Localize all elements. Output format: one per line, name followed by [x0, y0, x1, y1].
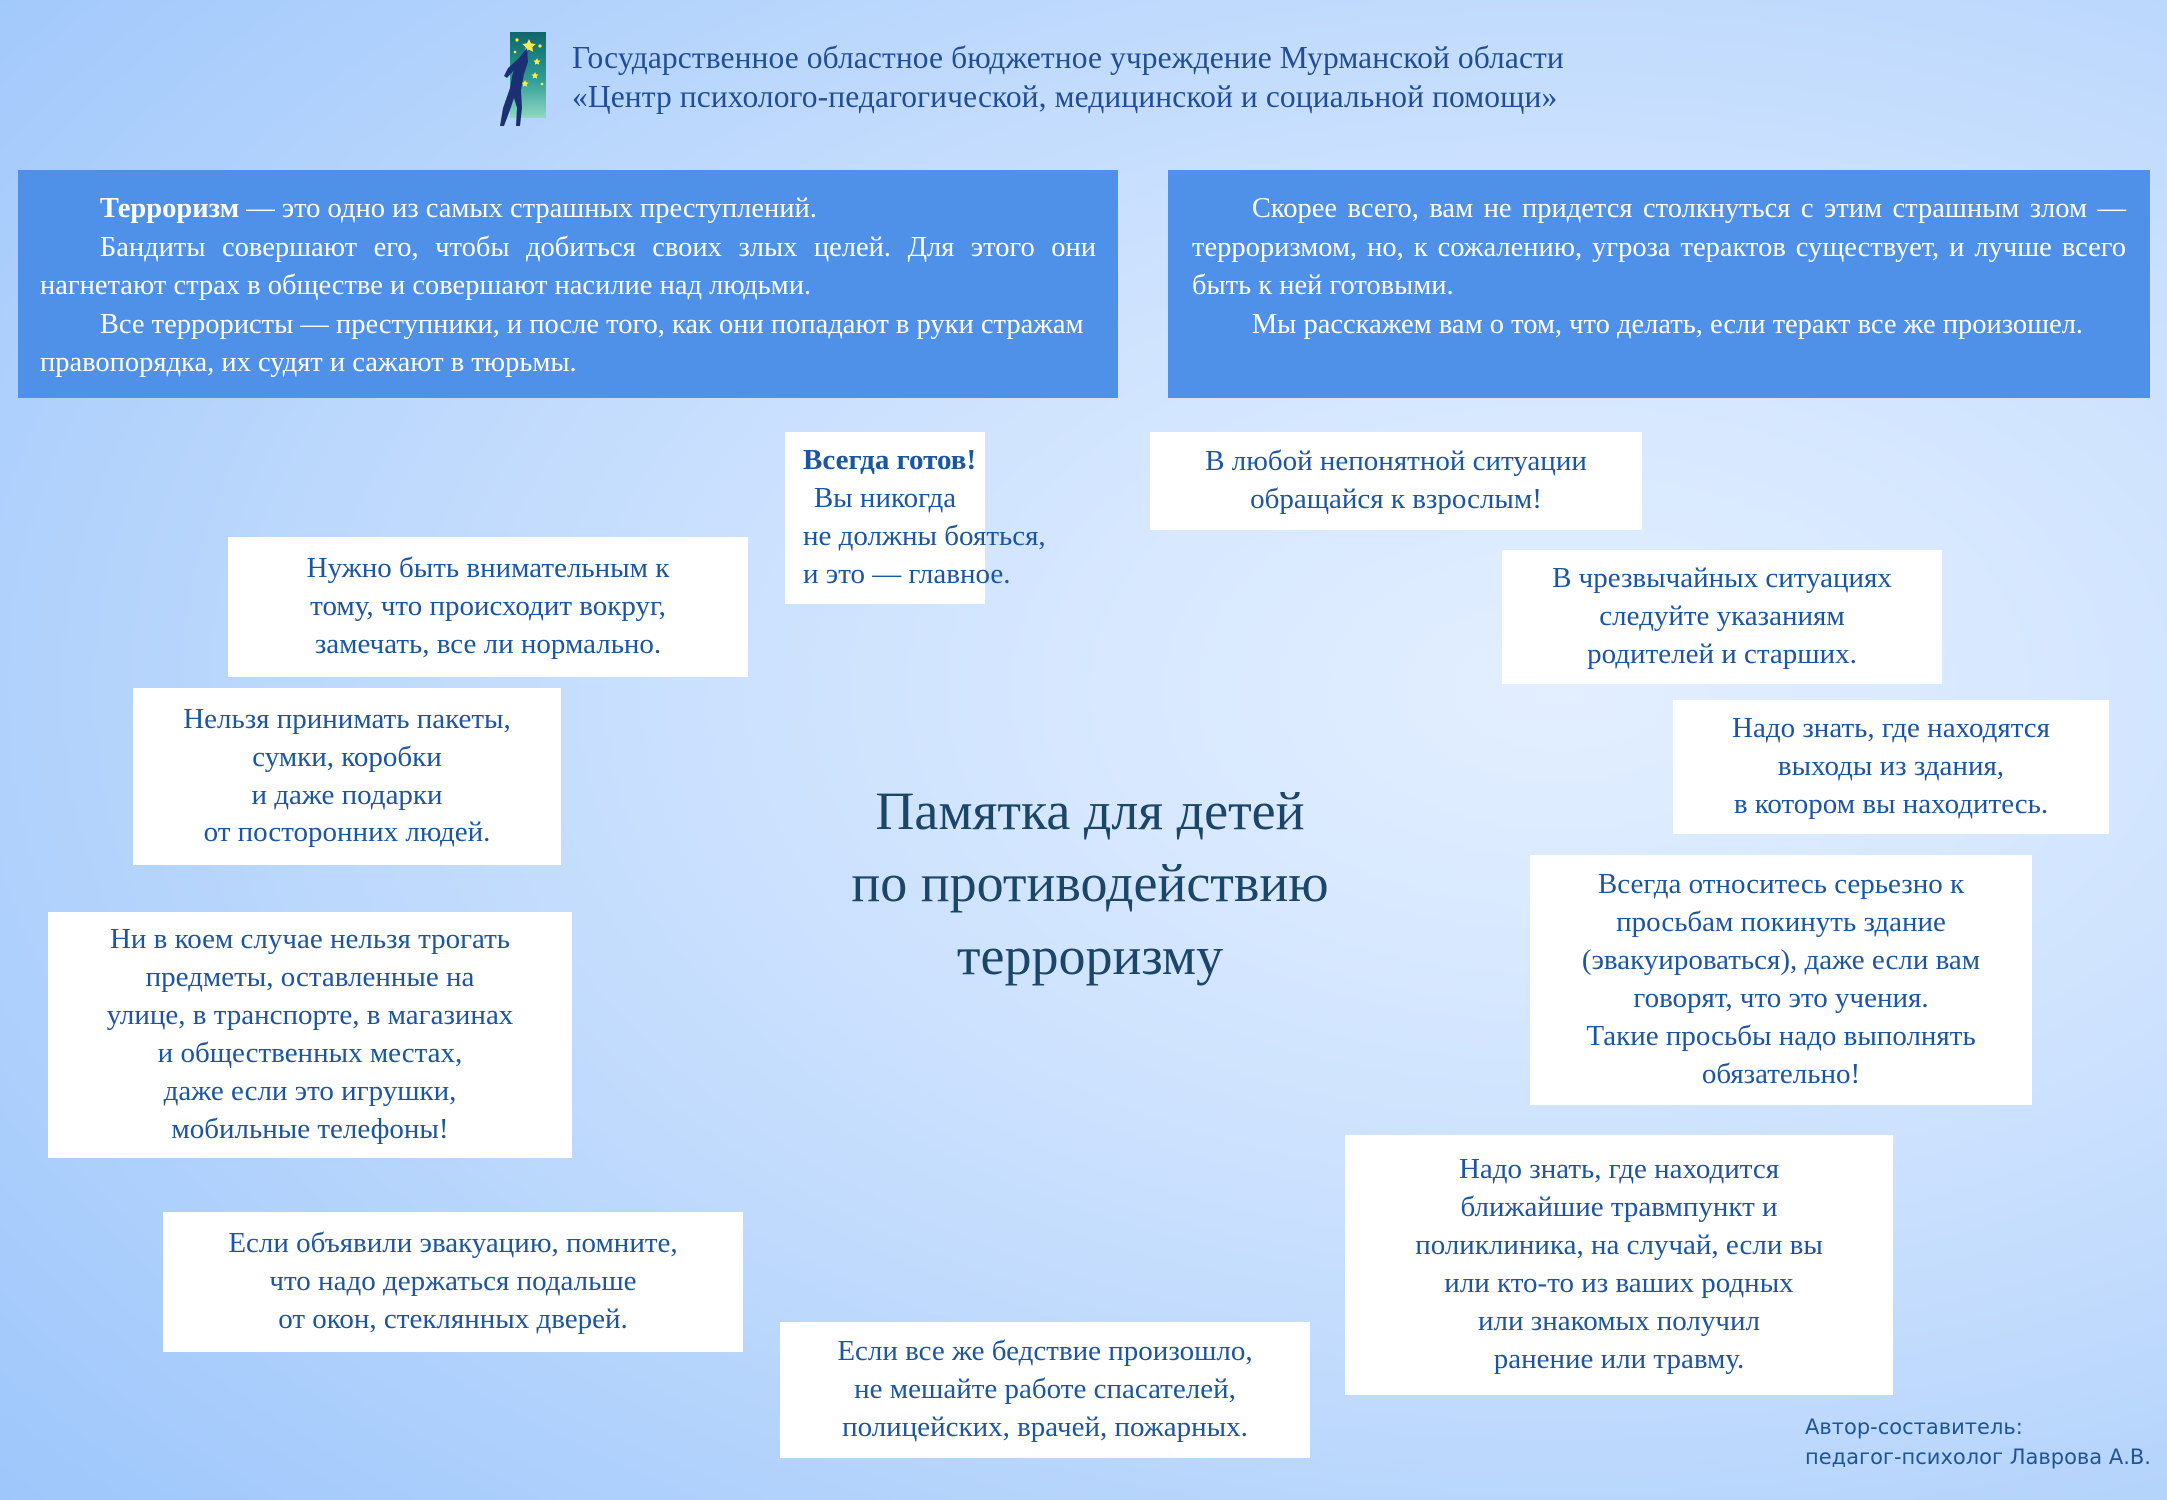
tip-line: ближайшие травмпункт и — [1363, 1189, 1875, 1227]
tip-line: Всегда готов! — [803, 442, 967, 480]
tip-line: Ни в коем случае нельзя трогать — [66, 921, 554, 959]
tip-line: даже если это игрушки, — [66, 1073, 554, 1111]
tip-line: что надо держаться подальше — [181, 1263, 725, 1301]
tip-line: Всегда относитесь серьезно к — [1548, 866, 2014, 904]
intro-panel-left: Терроризм — это одно из самых страшных п… — [18, 170, 1118, 398]
tip-line: следуйте указаниям — [1520, 598, 1924, 636]
tip-card-rescuers: Если все же бедствие произошло,не мешайт… — [780, 1322, 1310, 1458]
tip-card-dont-touch: Ни в коем случае нельзя трогатьпредметы,… — [48, 912, 572, 1158]
tip-card-be-attentive: Нужно быть внимательным ктому, что проис… — [228, 537, 748, 677]
page-title-line-2: по противодействию — [770, 847, 1410, 919]
intro-left-paragraph-2: Бандиты совершают его, чтобы добиться св… — [40, 229, 1096, 306]
tip-line: поликлиника, на случай, если вы — [1363, 1227, 1875, 1265]
logo-artwork — [498, 24, 550, 128]
organization-name: Государственное областное бюджетное учре… — [572, 24, 1564, 117]
tip-line: от окон, стеклянных дверей. — [181, 1301, 725, 1339]
tip-line: тому, что происходит вокруг, — [246, 588, 730, 626]
tip-card-evacuation: Если объявили эвакуацию, помните,что над… — [163, 1212, 743, 1352]
tip-line: полицейских, врачей, пожарных. — [798, 1409, 1292, 1447]
person-reaching-for-stars-logo — [498, 24, 550, 128]
tip-line: Надо знать, где находится — [1363, 1151, 1875, 1189]
author-credit: Автор-составитель: педагог-психолог Лавр… — [1805, 1412, 2151, 1473]
tip-line: обязательно! — [1548, 1056, 2014, 1094]
page-title-line-3: терроризму — [770, 920, 1410, 992]
tip-line: не мешайте работе спасателей, — [798, 1371, 1292, 1409]
author-credit-line-1: Автор-составитель: — [1805, 1412, 2151, 1442]
tip-card-trauma-point: Надо знать, где находитсяближайшие травм… — [1345, 1135, 1893, 1395]
tip-line: сумки, коробки — [151, 739, 543, 777]
tip-line: Нельзя принимать пакеты, — [151, 701, 543, 739]
tip-line: Если все же бедствие произошло, — [798, 1333, 1292, 1371]
tip-line: (эвакуироваться), даже если вам — [1548, 942, 2014, 980]
intro-left-paragraph-1: Терроризм — это одно из самых страшных п… — [40, 190, 1096, 229]
tip-line: В любой непонятной ситуации — [1168, 443, 1624, 481]
tip-line: или знакомых получил — [1363, 1303, 1875, 1341]
page-title-line-1: Памятка для детей — [770, 775, 1410, 847]
tip-line: родителей и старших. — [1520, 636, 1924, 674]
tip-card-no-packages: Нельзя принимать пакеты,сумки, коробкии … — [133, 688, 561, 865]
tip-card-know-exits: Надо знать, где находятсявыходы из здани… — [1673, 700, 2109, 834]
tip-line: обращайся к взрослым! — [1168, 481, 1624, 519]
intro-left-paragraph-1-rest: — это одно из самых страшных преступлени… — [239, 193, 817, 224]
author-credit-line-2: педагог-психолог Лаврова А.В. — [1805, 1442, 2151, 1472]
intro-lead-word: Терроризм — [100, 193, 239, 224]
tip-card-ready: Всегда готов!Вы никогдане должны бояться… — [785, 432, 985, 604]
page-title: Памятка для детей по противодействию тер… — [770, 775, 1410, 992]
poster-canvas: Государственное областное бюджетное учре… — [0, 0, 2167, 1500]
tip-line: Вы никогда — [803, 480, 967, 518]
tip-line: ранение или травму. — [1363, 1341, 1875, 1379]
tip-line: не должны бояться, — [803, 518, 967, 556]
tip-line: выходы из здания, — [1691, 748, 2091, 786]
organization-header: Государственное областное бюджетное учре… — [498, 24, 1564, 128]
tip-line: Если объявили эвакуацию, помните, — [181, 1225, 725, 1263]
tip-line: Нужно быть внимательным к — [246, 550, 730, 588]
tip-card-evacuate: Всегда относитесь серьезно кпросьбам пок… — [1530, 855, 2032, 1105]
tip-line: Надо знать, где находятся — [1691, 710, 2091, 748]
tip-line: и это — главное. — [803, 556, 967, 594]
tip-line: или кто-то из ваших родных — [1363, 1265, 1875, 1303]
tip-line: В чрезвычайных ситуациях — [1520, 560, 1924, 598]
tip-line: говорят, что это учения. — [1548, 980, 2014, 1018]
tip-line: предметы, оставленные на — [66, 959, 554, 997]
organization-line-2: «Центр психолого-педагогической, медицин… — [572, 77, 1564, 116]
tip-line: улице, в транспорте, в магазинах — [66, 997, 554, 1035]
tip-line: мобильные телефоны! — [66, 1111, 554, 1149]
tip-line: Такие просьбы надо выполнять — [1548, 1018, 2014, 1056]
tip-line: замечать, все ли нормально. — [246, 626, 730, 664]
intro-panel-right: Скорее всего, вам не придется столкнутьс… — [1168, 170, 2150, 398]
tip-line: просьбам покинуть здание — [1548, 904, 2014, 942]
intro-left-paragraph-3: Все террористы — преступники, и после то… — [40, 306, 1096, 383]
tip-line: и общественных местах, — [66, 1035, 554, 1073]
intro-right-paragraph-2: Мы расскажем вам о том, что делать, если… — [1192, 306, 2126, 345]
tip-card-emergency: В чрезвычайных ситуацияхследуйте указани… — [1502, 550, 1942, 684]
organization-line-1: Государственное областное бюджетное учре… — [572, 38, 1564, 77]
intro-right-paragraph-1: Скорее всего, вам не придется столкнутьс… — [1192, 190, 2126, 306]
tip-line: в котором вы находитесь. — [1691, 786, 2091, 824]
tip-line: и даже подарки — [151, 777, 543, 815]
tip-card-ask-adults: В любой непонятной ситуацииобращайся к в… — [1150, 432, 1642, 530]
tip-line: от посторонних людей. — [151, 814, 543, 852]
